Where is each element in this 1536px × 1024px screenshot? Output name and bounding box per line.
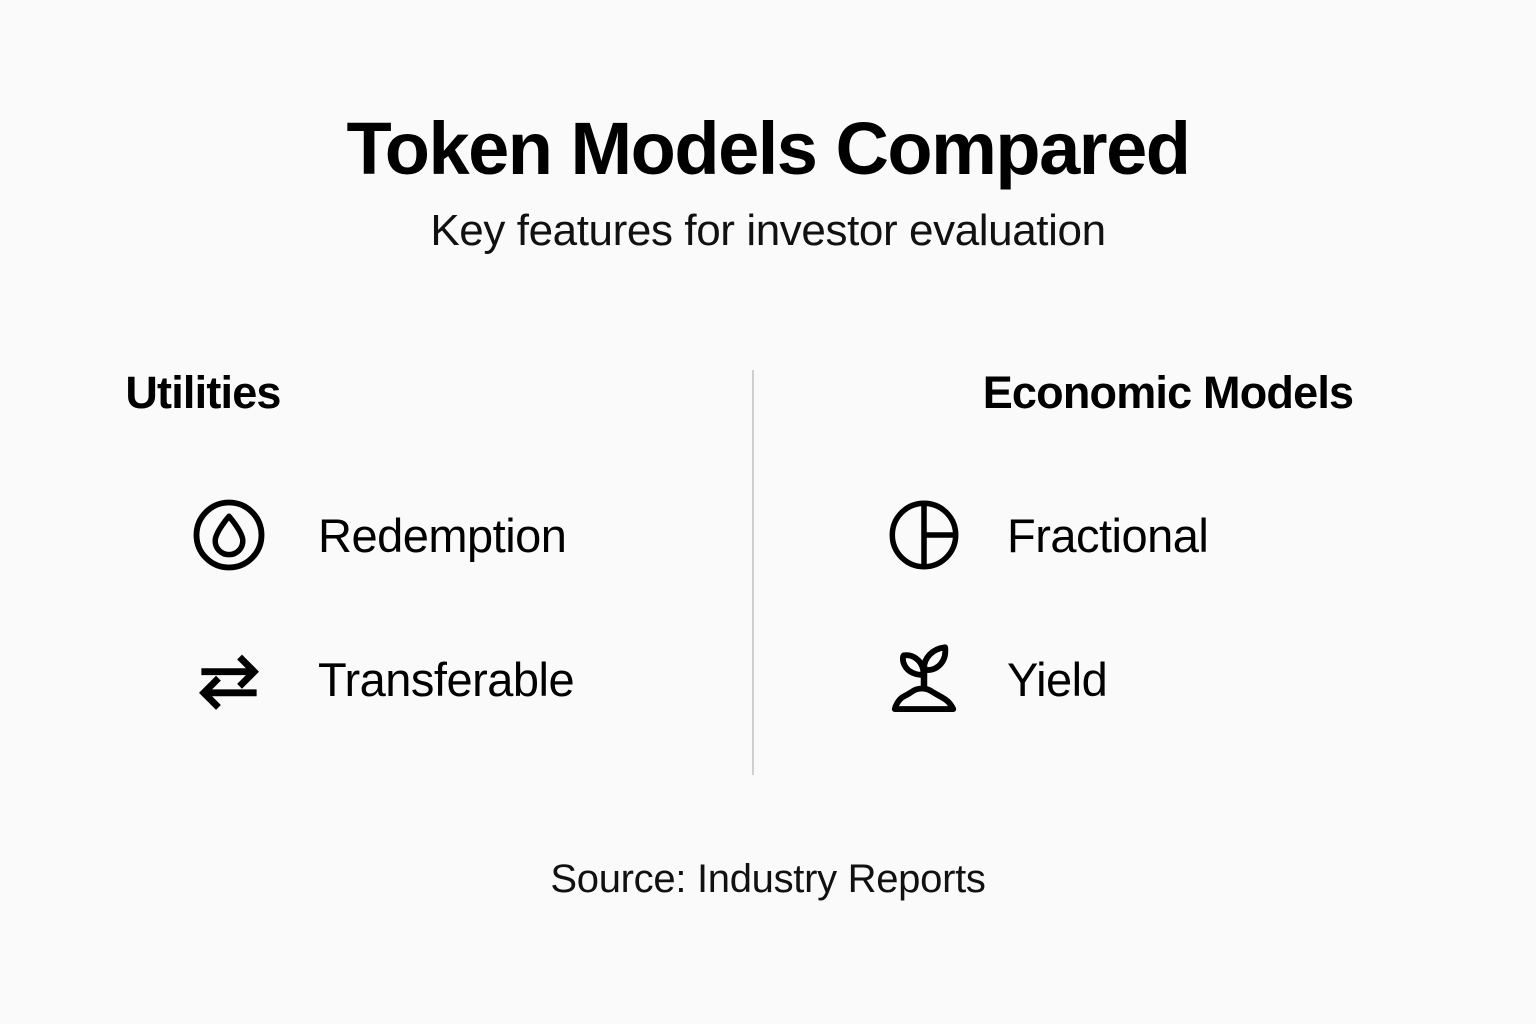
comparison-columns: Utilities Redemption	[0, 370, 1536, 780]
column-utilities: Utilities Redemption	[0, 370, 753, 727]
sprout-icon	[881, 636, 967, 722]
infographic-canvas: Token Models Compared Key features for i…	[0, 0, 1536, 1024]
page-subtitle: Key features for investor evaluation	[0, 206, 1536, 256]
header: Token Models Compared Key features for i…	[0, 110, 1536, 256]
feature-label-fractional: Fractional	[1007, 512, 1208, 559]
column-economic-models: Economic Models Fractional	[753, 370, 1506, 727]
feature-label-yield: Yield	[1007, 656, 1107, 703]
feature-list-utilities: Redemption Transferable	[0, 487, 753, 727]
column-heading-utilities: Utilities	[0, 370, 753, 415]
transfer-arrows-icon	[186, 636, 272, 722]
feature-item-fractional: Fractional	[753, 487, 1506, 583]
feature-item-redemption: Redemption	[0, 487, 753, 583]
pie-chart-icon	[881, 492, 967, 578]
feature-label-redemption: Redemption	[318, 512, 566, 559]
feature-item-yield: Yield	[753, 631, 1506, 727]
footer: Source: Industry Reports	[0, 857, 1536, 902]
page-title: Token Models Compared	[0, 110, 1536, 188]
droplet-in-circle-icon	[186, 492, 272, 578]
source-text: Source: Industry Reports	[0, 857, 1536, 902]
feature-list-economic-models: Fractional Yield	[753, 487, 1506, 727]
column-heading-economic-models: Economic Models	[753, 370, 1506, 415]
feature-item-transferable: Transferable	[0, 631, 753, 727]
feature-label-transferable: Transferable	[318, 656, 574, 703]
